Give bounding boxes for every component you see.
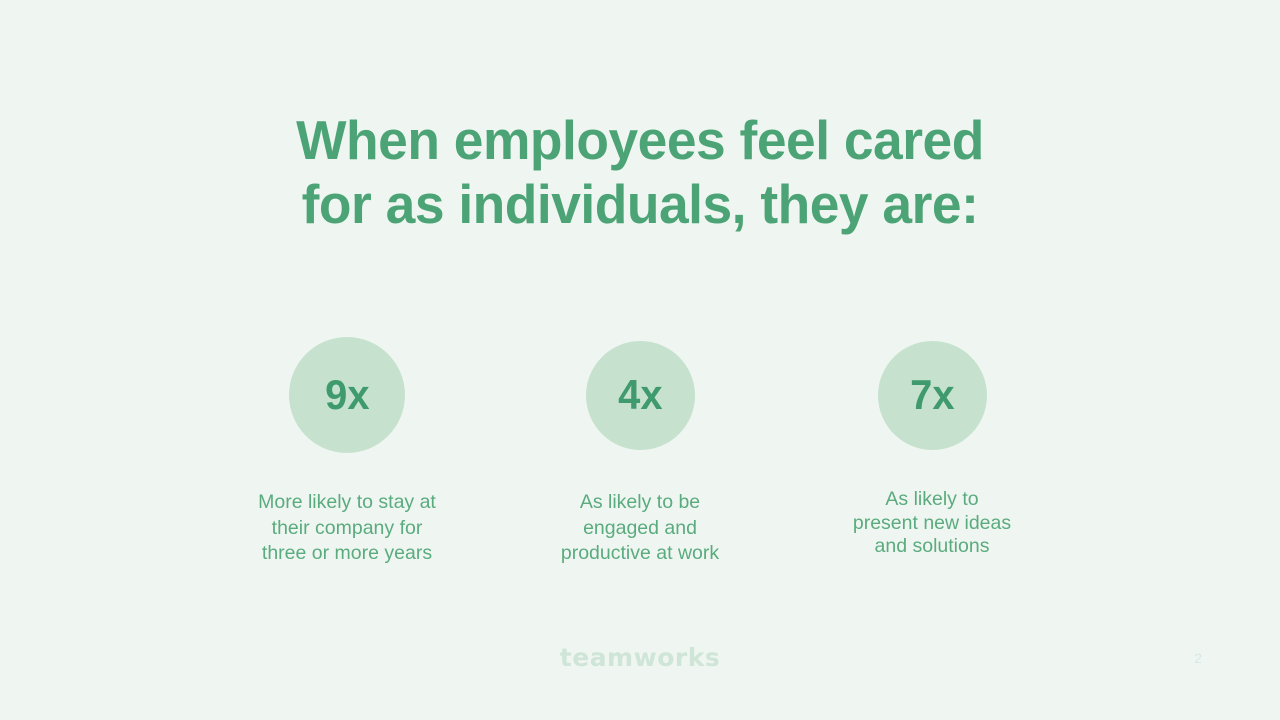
stat-caption-3: As likely to present new ideas and solut… [792,488,1072,559]
stat-caption-2: As likely to be engaged and productive a… [500,490,780,567]
stat-circle-wrap-2: 4x [500,334,780,456]
title-line-1: When employees feel cared [19,108,1261,172]
stat-item-2: 4x As likely to be engaged and productiv… [500,334,780,567]
slide-canvas: When employees feel cared for as individ… [0,0,1280,720]
page-number: 2 [1194,650,1202,666]
stat-caption-1: More likely to stay at their company for… [207,490,487,567]
title-line-2: for as individuals, they are: [19,172,1261,236]
stat-circle-1: 9x [289,337,405,453]
teamworks-logo: teamworks [0,643,1280,672]
stat-circle-wrap-3: 7x [792,334,1072,456]
stat-value-2: 4x [618,374,662,416]
stat-circle-wrap-1: 9x [207,334,487,456]
stats-row: 9x More likely to stay at their company … [0,334,1280,594]
stat-item-1: 9x More likely to stay at their company … [207,334,487,567]
stat-item-3: 7x As likely to present new ideas and so… [792,334,1072,559]
stat-circle-2: 4x [586,341,695,450]
stat-value-1: 9x [325,374,369,416]
page-title: When employees feel cared for as individ… [0,108,1280,236]
stat-circle-3: 7x [878,341,987,450]
stat-value-3: 7x [910,374,954,416]
